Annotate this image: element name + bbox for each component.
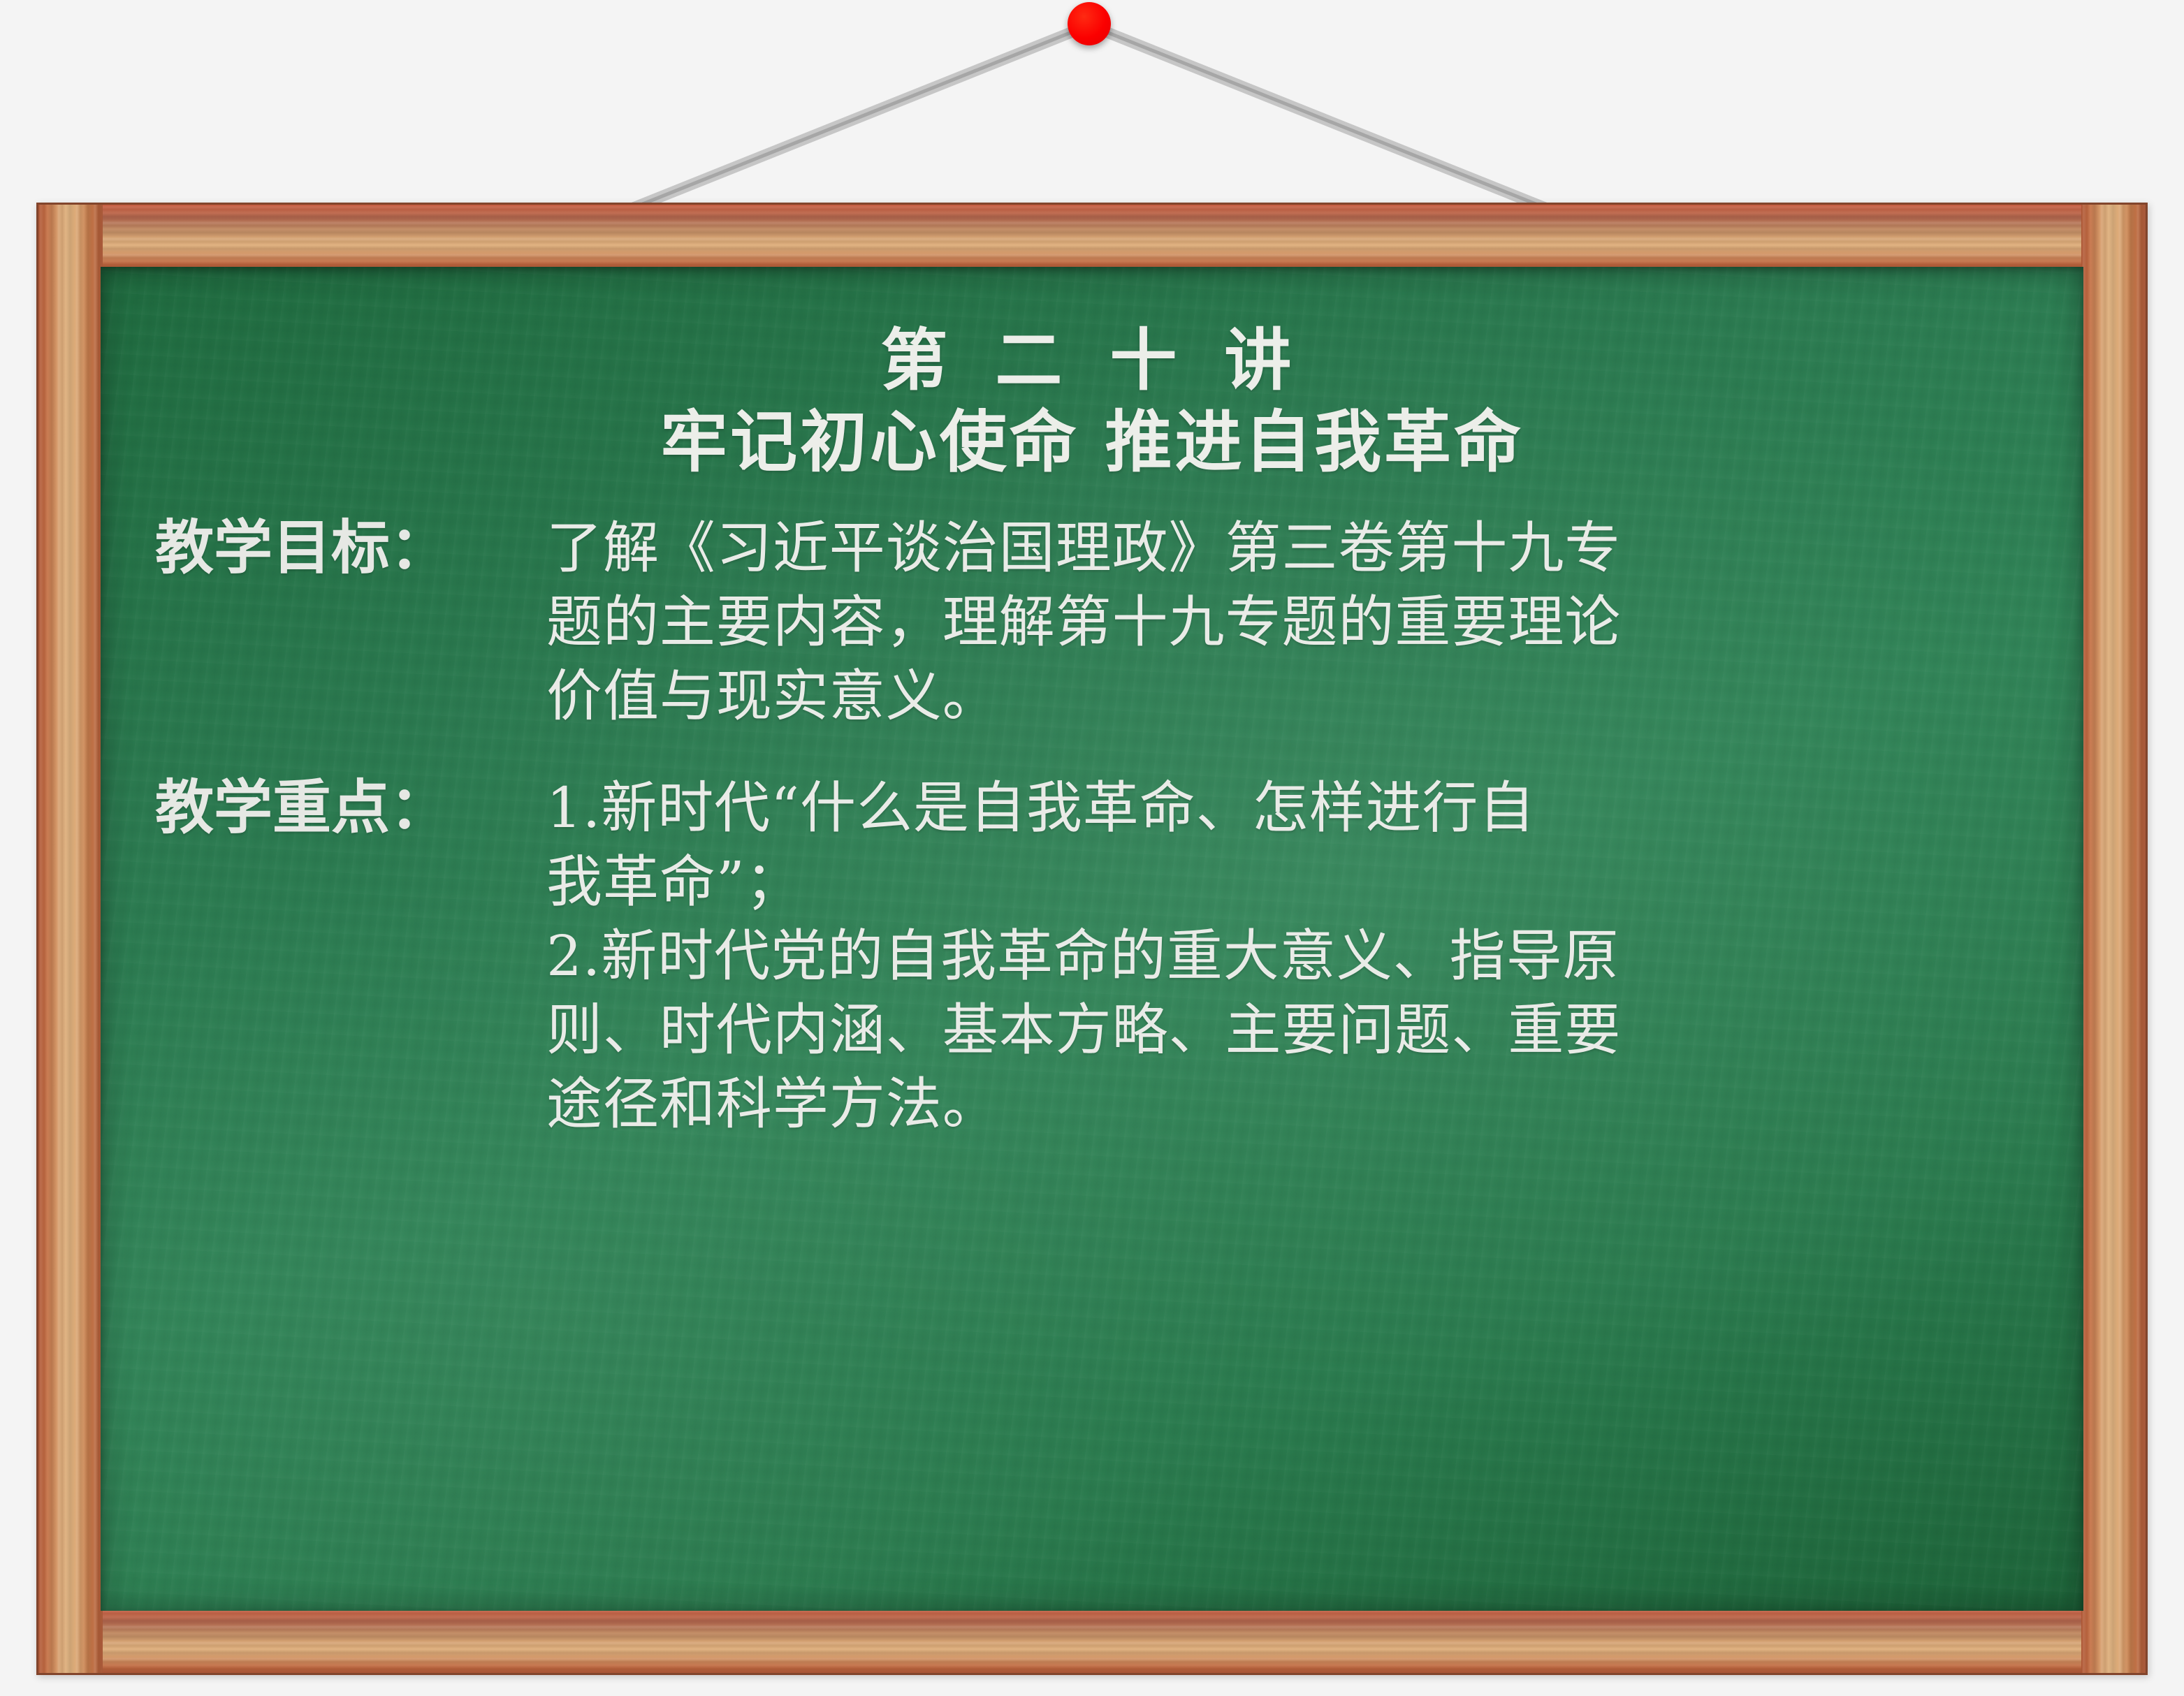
focus-line: 则、时代内涵、基本方略、主要问题、重要 <box>546 994 2029 1067</box>
chalkboard-surface: 第 二 十 讲 牢记初心使命 推进自我革命 教学目标： 了解《习近平谈治国理政》… <box>101 267 2083 1611</box>
lesson-heading: 牢记初心使命 推进自我革命 <box>155 402 2029 481</box>
frame-left-plank <box>38 205 103 1673</box>
frame-top-plank <box>38 205 2146 269</box>
focus-line: 途径和科学方法。 <box>546 1068 2029 1141</box>
objectives-label: 教学目标： <box>155 512 546 583</box>
focus-line: 1.新时代“什么是自我革命、怎样进行自 <box>546 772 2029 845</box>
section-teaching-objectives: 教学目标： 了解《习近平谈治国理政》第三卷第十九专 题的主要内容，理解第十九专题… <box>155 512 2029 733</box>
objectives-line: 题的主要内容，理解第十九专题的重要理论 <box>546 586 2029 659</box>
objectives-body: 了解《习近平谈治国理政》第三卷第十九专 题的主要内容，理解第十九专题的重要理论 … <box>546 512 2029 733</box>
focus-label: 教学重点： <box>155 772 546 843</box>
frame-bottom-plank <box>38 1609 2146 1673</box>
red-nail-icon <box>1068 2 1111 45</box>
frame-right-plank <box>2081 205 2146 1673</box>
framed-chalkboard: 第 二 十 讲 牢记初心使命 推进自我革命 教学目标： 了解《习近平谈治国理政》… <box>36 203 2148 1675</box>
focus-line: 2.新时代党的自我革命的重大意义、指导原 <box>546 920 2029 993</box>
objectives-line: 价值与现实意义。 <box>546 660 2029 733</box>
section-teaching-focus: 教学重点： 1.新时代“什么是自我革命、怎样进行自 我革命”； 2.新时代党的自… <box>155 772 2029 1141</box>
focus-line: 我革命”； <box>546 846 2029 919</box>
chalkboard-content: 第 二 十 讲 牢记初心使命 推进自我革命 教学目标： 了解《习近平谈治国理政》… <box>101 267 2083 1611</box>
focus-body: 1.新时代“什么是自我革命、怎样进行自 我革命”； 2.新时代党的自我革命的重大… <box>546 772 2029 1141</box>
lesson-title: 第 二 十 讲 牢记初心使命 推进自我革命 <box>155 323 2029 481</box>
lesson-number: 第 二 十 讲 <box>155 323 2029 398</box>
objectives-line: 了解《习近平谈治国理政》第三卷第十九专 <box>546 512 2029 585</box>
